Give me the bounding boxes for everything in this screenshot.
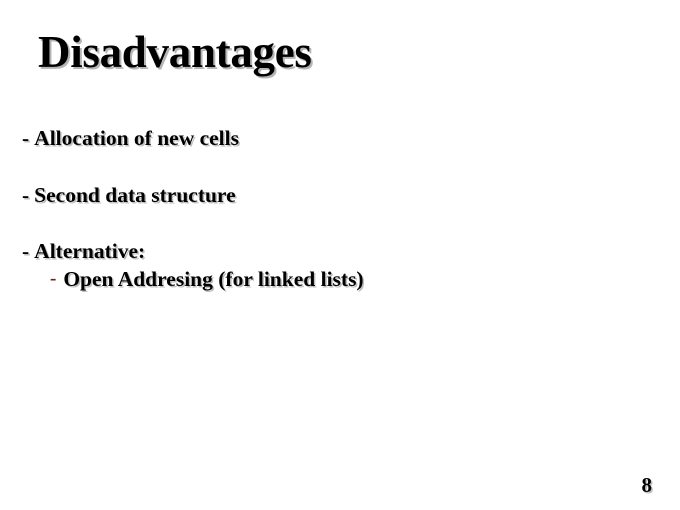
bullet-dash-marker: -: [22, 128, 29, 150]
list-item-label: Allocation of new cells: [29, 128, 239, 150]
list-item: -Second data structure: [22, 185, 642, 207]
list-item-label: Alternative:: [29, 241, 145, 263]
list-item: -Alternative:: [22, 241, 642, 263]
list-item-label: Second data structure: [29, 185, 235, 207]
sub-list-item: -Open Addresing (for linked lists): [50, 269, 642, 291]
page-number: 8: [642, 473, 653, 498]
list-item: -Allocation of new cells: [22, 128, 642, 150]
bullet-dash-marker: -: [22, 185, 29, 207]
presentation-slide: Disadvantages -Allocation of new cells -…: [0, 0, 680, 510]
page-title: Disadvantages: [38, 29, 312, 76]
bullet-dash-marker: -: [22, 241, 29, 263]
sub-list-item-label: Open Addresing (for linked lists): [56, 269, 363, 291]
slide-body-content: -Allocation of new cells -Second data st…: [22, 128, 642, 290]
